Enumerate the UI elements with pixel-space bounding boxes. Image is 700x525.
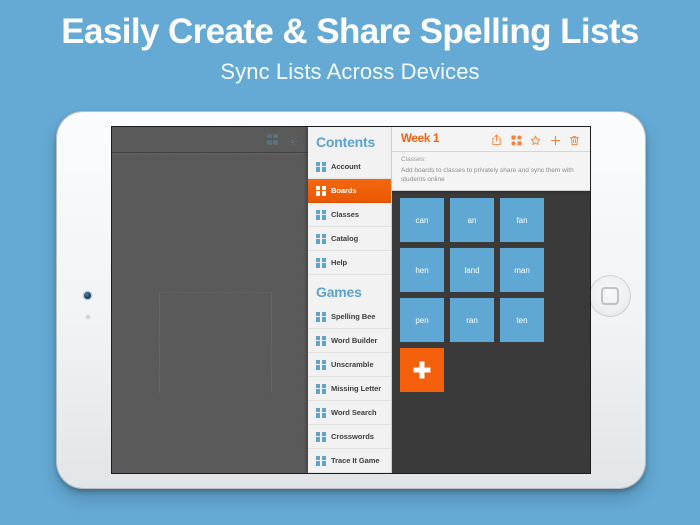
word-tile[interactable]: pen <box>400 298 444 342</box>
grid-icon <box>316 384 326 394</box>
grid-icon <box>316 186 326 196</box>
page-subtitle: Sync Lists Across Devices <box>0 51 700 85</box>
workspace-divider <box>112 152 308 153</box>
grid-icon <box>316 234 326 244</box>
sidebar-item-word-search[interactable]: Word Search <box>308 401 391 425</box>
sidebar-item-unscramble[interactable]: Unscramble <box>308 353 391 377</box>
share-icon[interactable] <box>491 133 502 145</box>
sidebar-item-label: Missing Letter <box>331 384 381 393</box>
sidebar-item-crosswords[interactable]: Crosswords <box>308 425 391 449</box>
boards-grid-icon[interactable] <box>267 134 278 145</box>
sidebar-heading-games: Games <box>308 275 391 305</box>
sidebar-item-label: Word Search <box>331 408 377 417</box>
grid-icon <box>316 210 326 220</box>
board-note-label: Classes: <box>401 156 581 163</box>
sidebar-item-label: Trace It Game <box>331 456 380 465</box>
sidebar-item-label: Boards <box>331 186 357 195</box>
sidebar-item-trace-it-game[interactable]: Trace It Game <box>308 449 391 473</box>
navigation-sidebar[interactable]: Contents Account Boards Classes Catalog … <box>308 127 392 473</box>
word-tile[interactable]: ten <box>500 298 544 342</box>
workspace-toolbar <box>112 127 308 151</box>
grid-icon <box>316 432 326 442</box>
grid-icon <box>316 360 326 370</box>
tablet-device: Contents Account Boards Classes Catalog … <box>57 112 645 488</box>
sidebar-item-word-builder[interactable]: Word Builder <box>308 329 391 353</box>
word-tile[interactable]: ran <box>450 298 494 342</box>
sidebar-item-label: Classes <box>331 210 359 219</box>
sidebar-item-classes[interactable]: Classes <box>308 203 391 227</box>
sidebar-item-missing-letter[interactable]: Missing Letter <box>308 377 391 401</box>
sidebar-item-label: Catalog <box>331 234 358 243</box>
qr-code-icon[interactable] <box>511 133 522 145</box>
front-camera <box>84 292 91 299</box>
sidebar-item-label: Spelling Bee <box>331 312 375 321</box>
page-title: Easily Create & Share Spelling Lists <box>0 0 700 51</box>
sidebar-item-label: Account <box>331 162 361 171</box>
promo-banner: Easily Create & Share Spelling Lists Syn… <box>0 0 700 85</box>
trash-icon[interactable] <box>569 133 580 145</box>
board-note-text: Add boards to classes to privately share… <box>401 166 581 185</box>
sidebar-item-spelling-bee[interactable]: Spelling Bee <box>308 305 391 329</box>
home-button[interactable] <box>589 275 631 317</box>
board-action-toolbar <box>491 133 580 145</box>
sidebar-item-account[interactable]: Account <box>308 155 391 179</box>
ambient-light-sensor <box>86 315 90 319</box>
star-icon[interactable] <box>530 133 541 145</box>
workspace-panel[interactable] <box>112 127 308 473</box>
board-note: Classes: Add boards to classes to privat… <box>392 152 590 191</box>
word-tile[interactable]: man <box>500 248 544 292</box>
add-word-tile-button[interactable] <box>400 348 444 392</box>
board-panel: Week 1 <box>392 127 590 473</box>
grid-icon <box>316 336 326 346</box>
sidebar-item-label: Crosswords <box>331 432 374 441</box>
sidebar-item-label: Unscramble <box>331 360 373 369</box>
plus-icon[interactable] <box>550 133 561 145</box>
sidebar-item-label: Help <box>331 258 347 267</box>
workspace-placeholder-outline <box>159 292 272 393</box>
sidebar-item-label: Word Builder <box>331 336 377 345</box>
grid-icon <box>316 456 326 466</box>
board-title: Week 1 <box>401 133 439 145</box>
sidebar-item-help[interactable]: Help <box>308 251 391 275</box>
sidebar-item-catalog[interactable]: Catalog <box>308 227 391 251</box>
word-tile[interactable]: hen <box>400 248 444 292</box>
word-tile-grid: can an fan hen land man pen ran ten <box>392 191 590 473</box>
grid-icon <box>316 408 326 418</box>
board-header: Week 1 <box>392 127 590 152</box>
word-tile[interactable]: land <box>450 248 494 292</box>
plus-icon <box>420 362 425 379</box>
word-tile[interactable]: can <box>400 198 444 242</box>
sidebar-item-boards[interactable]: Boards <box>308 179 391 203</box>
sidebar-heading-contents: Contents <box>308 127 391 155</box>
settings-gear-icon[interactable] <box>287 134 298 145</box>
grid-icon <box>316 162 326 172</box>
word-tile[interactable]: an <box>450 198 494 242</box>
word-tile[interactable]: fan <box>500 198 544 242</box>
tablet-screen: Contents Account Boards Classes Catalog … <box>112 127 590 473</box>
grid-icon <box>316 258 326 268</box>
grid-icon <box>316 312 326 322</box>
